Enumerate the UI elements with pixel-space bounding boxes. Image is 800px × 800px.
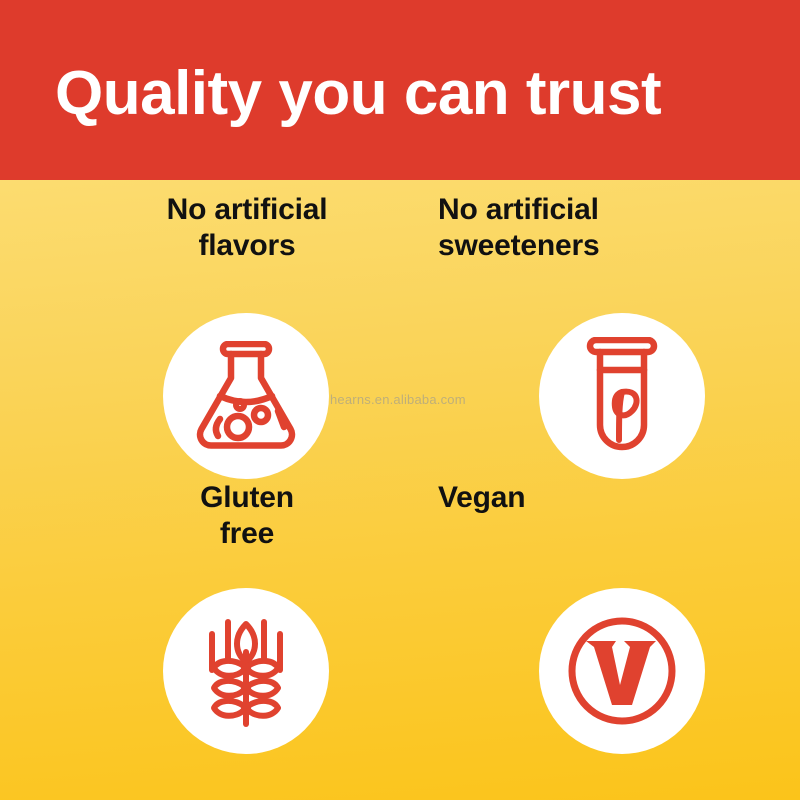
feature-label-line2: sweeteners (438, 229, 599, 262)
feature-label-line2: free (220, 517, 274, 550)
feature-item-no-artificial-sweeteners[interactable]: No artificial sweeteners (420, 192, 750, 492)
feature-icon-badge (539, 588, 705, 754)
feature-label: No artificial flavors (82, 192, 412, 264)
feature-icon-badge (163, 313, 329, 479)
feature-label: No artificial sweeteners (420, 192, 750, 264)
promo-graphic: Quality you can trust No artificial flav… (0, 0, 800, 800)
feature-label: Gluten free (82, 480, 412, 552)
feature-item-vegan[interactable]: Vegan (420, 480, 750, 780)
test-tube-leaf-icon (582, 337, 662, 455)
feature-label-line1: Vegan (438, 481, 525, 514)
feature-grid: No artificial flavors (0, 180, 800, 800)
feature-icon-badge (539, 313, 705, 479)
feature-label-line1: No artificial (167, 193, 328, 226)
page-title: Quality you can trust (55, 58, 661, 130)
feature-label: Vegan (420, 480, 750, 516)
flask-icon (194, 341, 298, 451)
wheat-icon (198, 612, 294, 730)
vegan-v-icon (562, 611, 682, 731)
feature-icon-badge (163, 588, 329, 754)
feature-label-line2: flavors (199, 229, 296, 262)
feature-label-line1: Gluten (200, 481, 294, 514)
header-banner: Quality you can trust (0, 0, 800, 180)
feature-item-gluten-free[interactable]: Gluten free (82, 480, 412, 780)
feature-label-line1: No artificial (438, 193, 599, 226)
feature-item-no-artificial-flavors[interactable]: No artificial flavors (82, 192, 412, 492)
